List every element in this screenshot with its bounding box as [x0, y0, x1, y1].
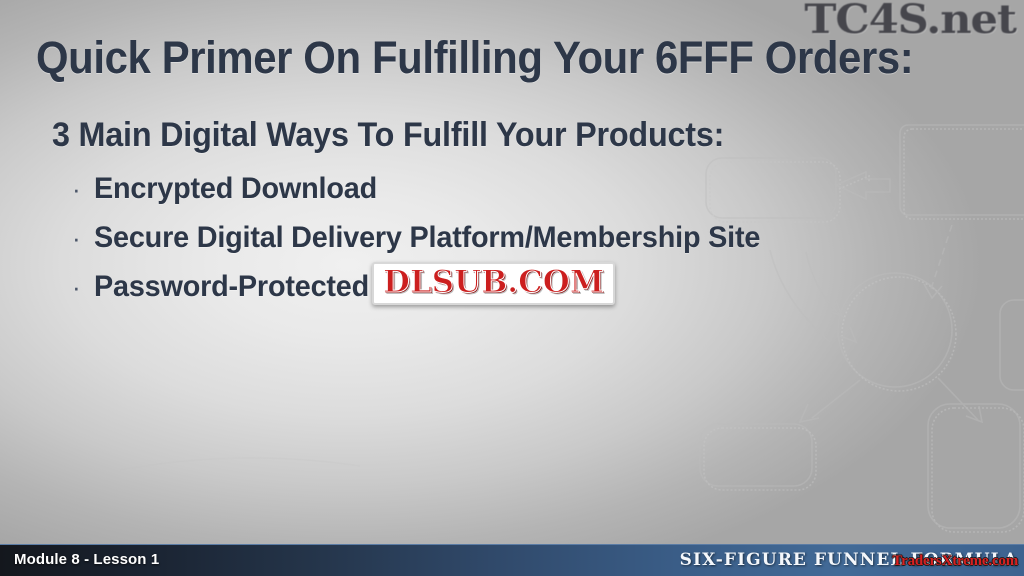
bullet-dot-icon: · [68, 165, 94, 214]
bullet-label: Encrypted Download [94, 164, 377, 213]
bullet-dot-icon: · [68, 214, 94, 263]
bullet-item-encrypted-download: · Encrypted Download [68, 164, 1008, 213]
bullet-dot-icon: · [68, 263, 94, 312]
presentation-slide: TC4S.net Quick Primer On Fulfilling Your… [0, 0, 1024, 576]
footer-bar: Module 8 - Lesson 1 SIX-FIGURE FUNNEL FO… [0, 544, 1024, 576]
dlsub-watermark: DLSUB.COM [372, 262, 615, 305]
bullet-item-secure-digital-delivery: · Secure Digital Delivery Platform/Membe… [68, 213, 1008, 262]
tradersxtreme-watermark: TradersXtreme.com [892, 553, 1018, 570]
slide-title: Quick Primer On Fulfilling Your 6FFF Ord… [36, 32, 938, 84]
module-lesson-label: Module 8 - Lesson 1 [14, 551, 159, 568]
slide-subtitle: 3 Main Digital Ways To Fulfill Your Prod… [52, 114, 724, 156]
bullet-label: Secure Digital Delivery Platform/Members… [94, 213, 760, 262]
